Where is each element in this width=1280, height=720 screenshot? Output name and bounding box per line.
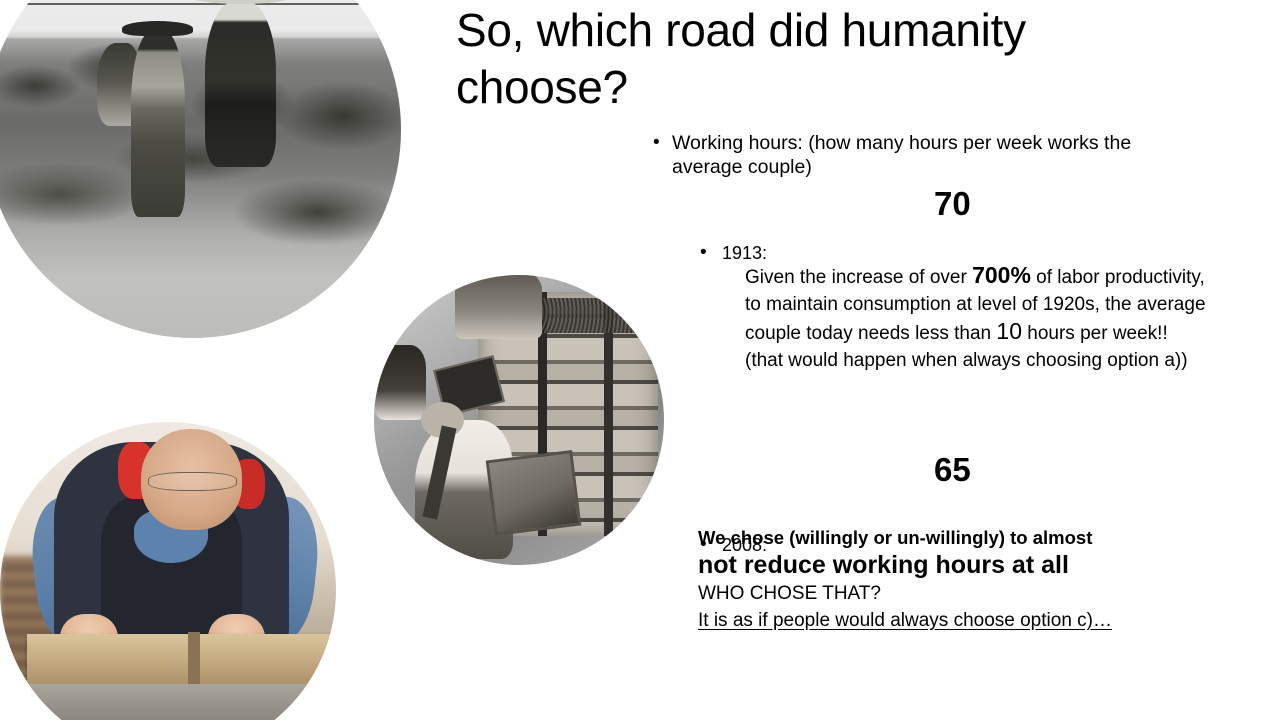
crates-photo-background-figure (374, 345, 426, 420)
bullet-working-hours: • Working hours: (how many hours per wee… (653, 131, 1201, 179)
bullet-marker-icon: • (653, 131, 660, 155)
field-photo-horizon-line (0, 3, 401, 5)
paragraph-hours-emphasis: 10 (996, 318, 1022, 344)
bullet-marker-icon: • (700, 241, 707, 265)
closing-line-1: We chose (willingly or un-willingly) to … (698, 526, 1198, 550)
carpenter-photo-wood-plank (27, 634, 336, 688)
carpenter-photo (0, 422, 336, 720)
year-1913-value: 70 (934, 185, 971, 223)
presentation-slide: So, which road did humanity choose? • Wo… (0, 0, 1280, 720)
paragraph-percent-emphasis: 700% (972, 262, 1031, 288)
crate-stacking-photo (374, 275, 664, 565)
productivity-explanation-paragraph: Given the increase of over 700% of labor… (745, 262, 1207, 374)
closing-line-2: not reduce working hours at all (698, 550, 1198, 580)
paragraph-part-1: Given the increase of over (745, 267, 972, 288)
carpenter-photo-workbench (20, 684, 336, 720)
carpenter-photo-eyeglasses (148, 472, 237, 491)
field-workers-photo (0, 0, 401, 338)
bullet-working-hours-label: Working hours: (how many hours per week … (672, 131, 1201, 179)
page-title: So, which road did humanity choose? (456, 2, 1156, 116)
closing-statement-block: We chose (willingly or un-willingly) to … (698, 526, 1198, 634)
crates-photo-adult-worker (455, 275, 542, 339)
field-photo-standing-man (205, 1, 276, 167)
closing-line-3: WHO CHOSE THAT? (698, 580, 1198, 607)
year-2008-value: 65 (934, 451, 971, 489)
field-photo-boy (131, 30, 185, 217)
field-photo-crop-rows (0, 38, 401, 338)
crates-photo-held-crate (486, 450, 582, 536)
closing-line-4: It is as if people would always choose o… (698, 607, 1198, 634)
